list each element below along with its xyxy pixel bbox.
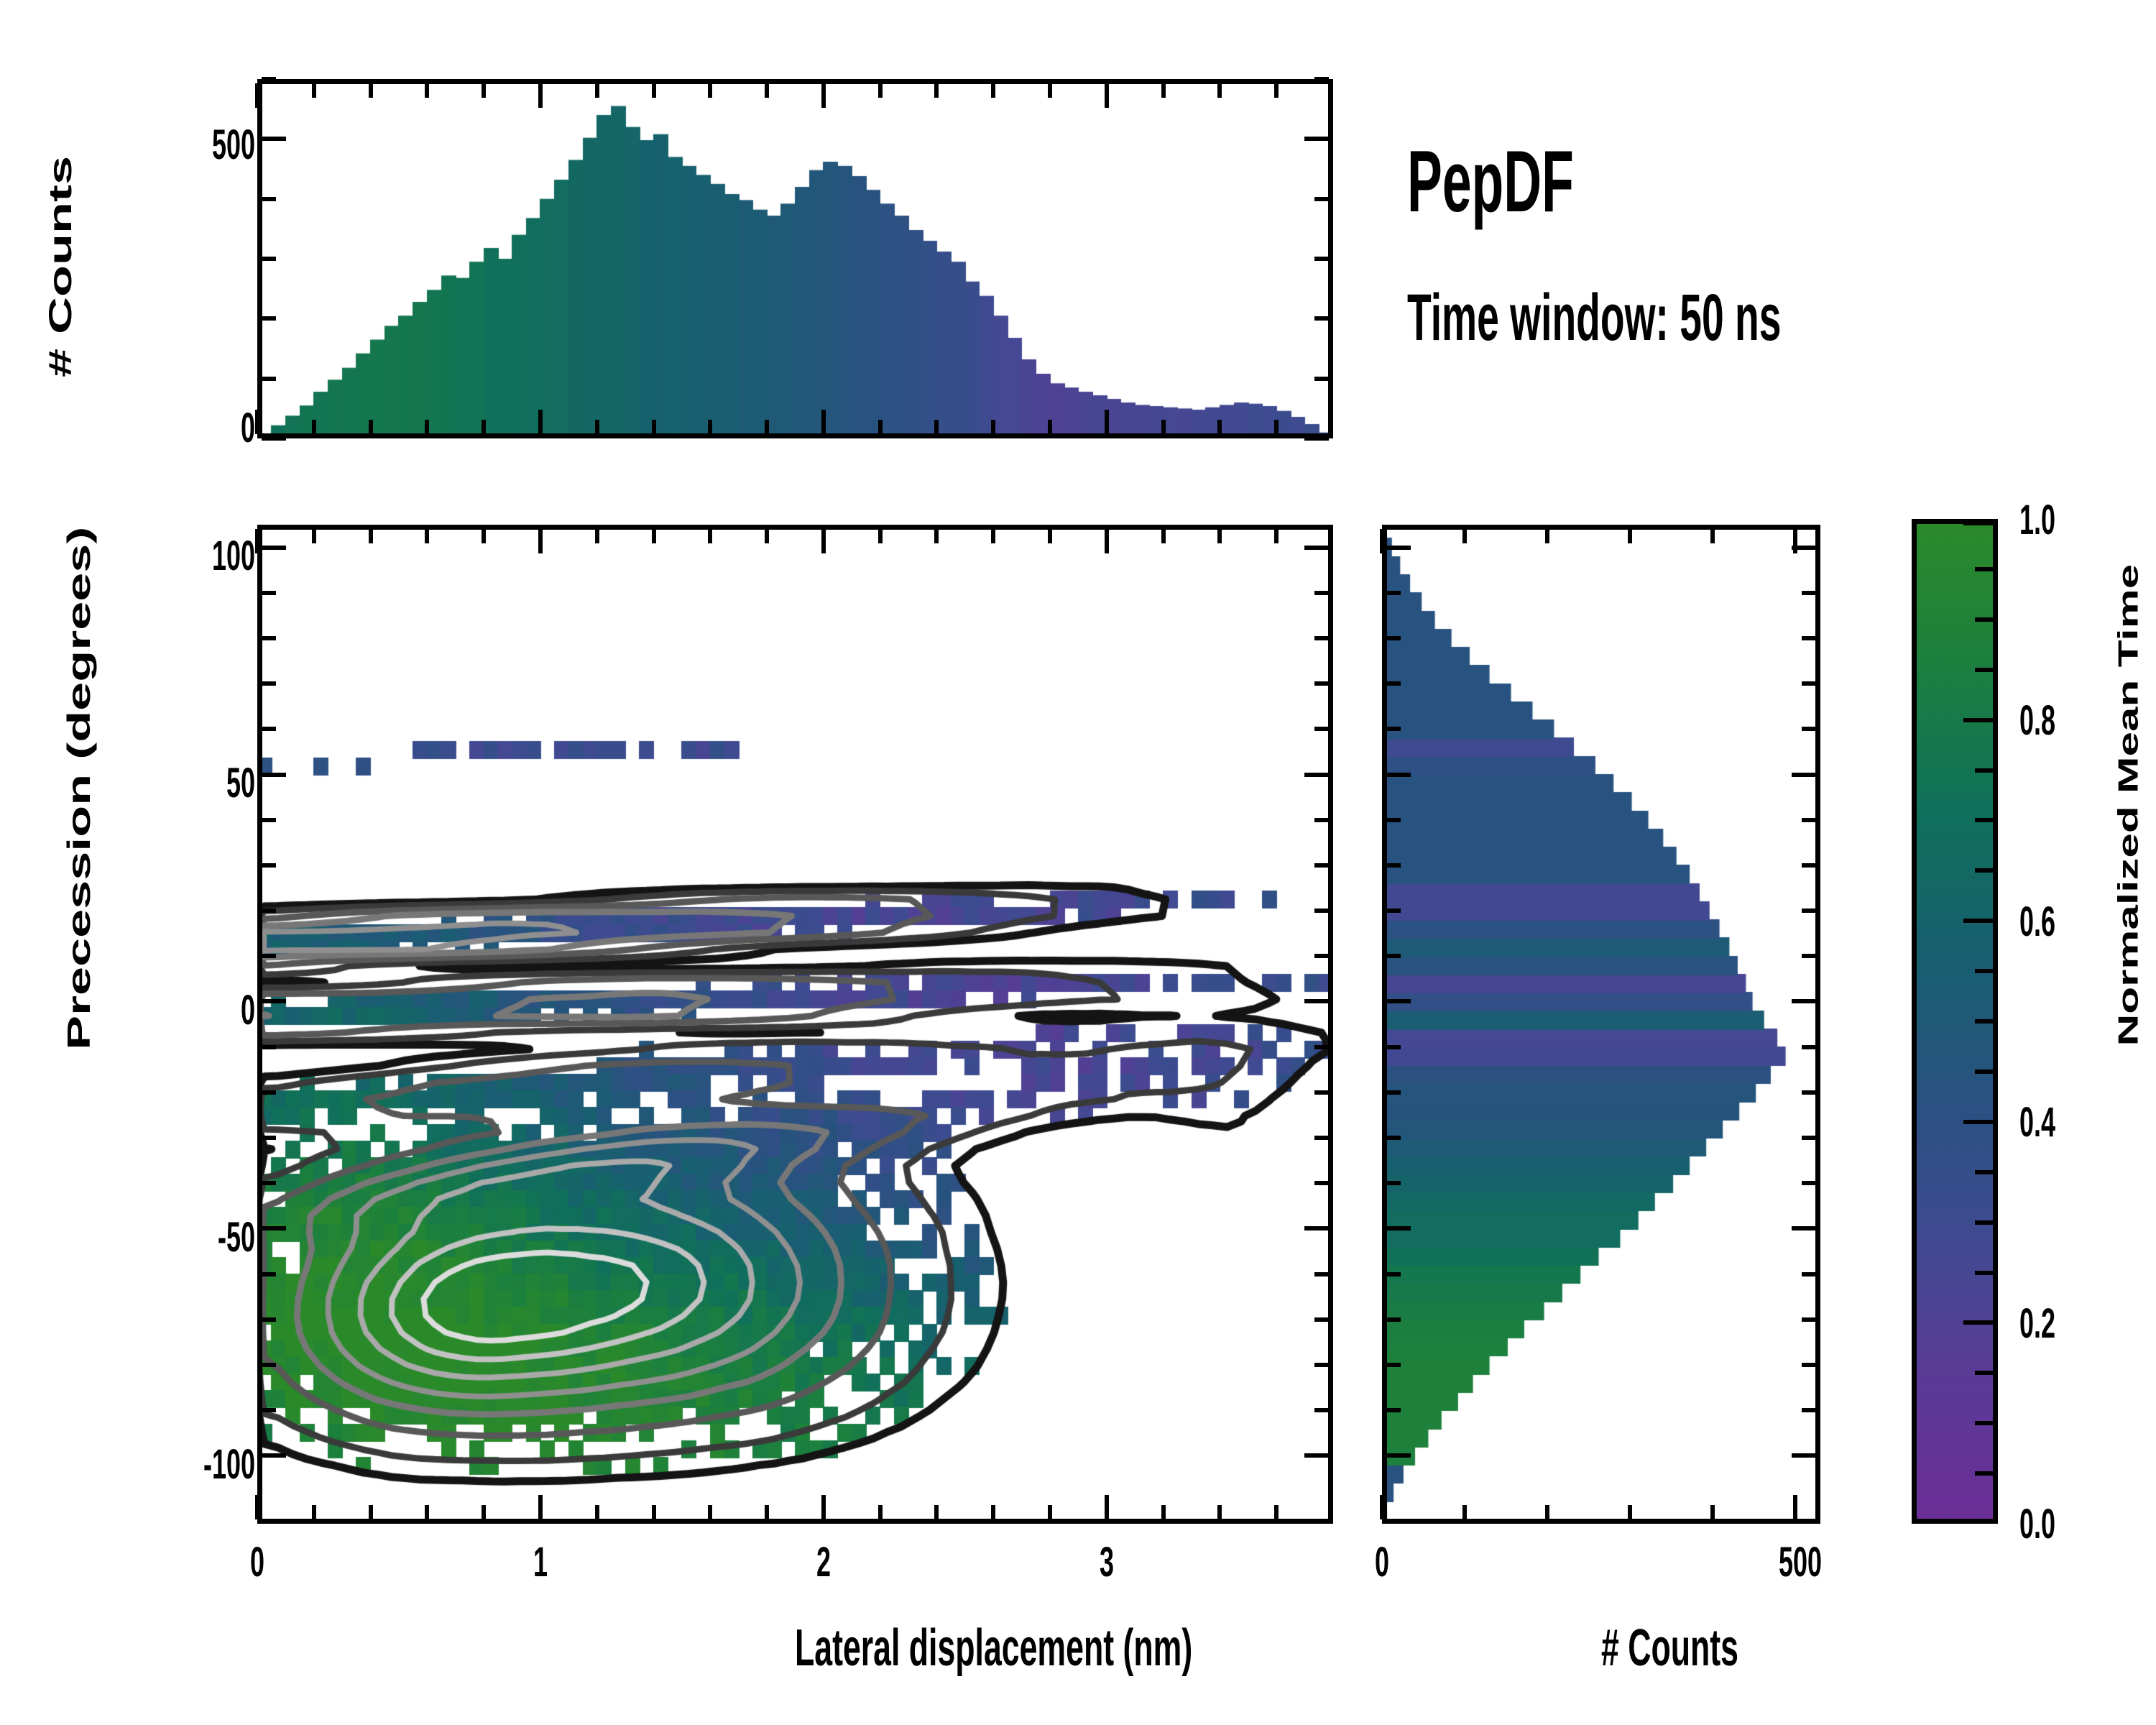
main-ytick-right [1304, 546, 1329, 550]
right-xtick-top [1710, 529, 1715, 543]
main-ytick-right [1314, 1408, 1329, 1412]
top-xtick-bottom [255, 410, 259, 434]
main-xtick-bottom [934, 1505, 939, 1519]
main-xtick-bottom [878, 1505, 883, 1519]
top-xtick-bottom [369, 420, 373, 434]
main-xtick-bottom [595, 1505, 599, 1519]
main-ytick-left [262, 1136, 276, 1140]
colorbar-tick [1963, 1120, 1994, 1124]
main-xtick-top [482, 529, 486, 543]
colorbar-tick [1963, 1519, 1994, 1524]
right-ytick-left [1386, 1453, 1411, 1458]
right-ytick-left [1386, 773, 1411, 777]
colorbar-tick [1975, 1069, 1994, 1074]
main-ytick-left [262, 1272, 276, 1276]
main-xtick-top [708, 529, 712, 543]
main-ytick-right [1314, 1136, 1329, 1140]
right-xtick-bottom [1545, 1505, 1549, 1519]
main-xtick-top [425, 529, 429, 543]
main-ytick-left [262, 954, 276, 958]
right-ytick-right [1802, 1090, 1816, 1095]
colorbar-tick [1975, 1170, 1994, 1174]
top-histogram-plot-area [257, 79, 1333, 438]
main-ytick-left [262, 1090, 276, 1095]
main-xtick-top [652, 529, 656, 543]
main-xtick-bottom [425, 1505, 429, 1519]
right-ytick-right [1802, 1045, 1816, 1049]
right-ytick-right [1792, 999, 1816, 1003]
main-xtick-bottom [765, 1505, 769, 1519]
colorbar-tick [1963, 718, 1994, 722]
density-contour-lines [257, 525, 1333, 1524]
right-ytick-right [1792, 1226, 1816, 1230]
top-xtick-top [821, 83, 826, 108]
main-xtick-top [934, 529, 939, 543]
main-ytick-neg50: -50 [157, 1213, 255, 1261]
right-xtick-bottom [1380, 1495, 1384, 1519]
top-xtick-top [878, 83, 883, 98]
main-xtick-3: 3 [1084, 1538, 1129, 1586]
figure-title: PepDF [1407, 131, 1574, 231]
colorbar-tick-0-4: 0.4 [2019, 1098, 2117, 1146]
top-ytick-left [262, 137, 286, 141]
top-xtick-bottom [821, 410, 826, 434]
right-xtick-top [1628, 529, 1632, 543]
top-xtick-top [708, 83, 712, 98]
main-ytick-left [262, 546, 286, 550]
right-ytick-left [1386, 954, 1401, 958]
main-xtick-top [765, 529, 769, 543]
top-xtick-top [312, 83, 316, 98]
main-xtick-0: 0 [235, 1538, 280, 1586]
colorbar-tick-0-2: 0.2 [2019, 1299, 2117, 1348]
right-ytick-right [1792, 1453, 1816, 1458]
top-xtick-bottom [482, 420, 486, 434]
right-ytick-left [1386, 1317, 1401, 1322]
right-ytick-left [1386, 1136, 1401, 1140]
right-histogram-plot-area [1382, 525, 1820, 1524]
main-ytick-right [1314, 954, 1329, 958]
main-ytick-right [1304, 999, 1329, 1003]
colorbar-tick-0-6: 0.6 [2019, 898, 2117, 946]
main-xtick-top [595, 529, 599, 543]
colorbar-tick-0-8: 0.8 [2019, 696, 2117, 745]
right-ytick-left [1386, 1045, 1401, 1049]
colorbar-tick [1975, 868, 1994, 873]
main-ytick-right [1314, 591, 1329, 595]
colorbar-tick [1975, 567, 1994, 571]
right-ytick-right [1802, 1136, 1816, 1140]
top-ytick-left [262, 257, 276, 261]
main-xtick-bottom [1048, 1505, 1052, 1519]
colorbar-tick [1963, 521, 1994, 525]
top-ytick-right [1314, 77, 1329, 81]
top-xtick-bottom [1048, 420, 1052, 434]
main-xtick-bottom [312, 1505, 316, 1519]
main-ytick-right [1314, 1317, 1329, 1322]
top-ytick-left [262, 316, 276, 321]
right-ytick-right [1802, 954, 1816, 958]
right-ytick-left [1386, 546, 1411, 550]
top-ytick-left [262, 197, 276, 201]
top-histogram-ylabel: # Counts [42, 156, 79, 377]
main-ytick-right [1304, 1453, 1329, 1458]
right-ytick-right [1802, 1408, 1816, 1412]
main-xtick-top [369, 529, 373, 543]
top-xtick-top [934, 83, 939, 98]
right-ytick-right [1802, 681, 1816, 686]
main-xtick-bottom [538, 1495, 543, 1519]
main-ytick-left [262, 1363, 276, 1367]
main-xtick-top [538, 529, 543, 553]
right-ytick-right [1802, 818, 1816, 822]
main-ytick-right [1314, 1181, 1329, 1185]
top-xtick-top [595, 83, 599, 98]
colorbar-tick [1975, 1271, 1994, 1275]
figure-root: 500 0 # Counts PepDF Time window: 50 ns … [0, 0, 2156, 1725]
right-ytick-left [1386, 591, 1401, 595]
right-ytick-left [1386, 1181, 1401, 1185]
right-ytick-right [1802, 727, 1816, 731]
top-ytick-left [262, 377, 276, 381]
top-xtick-top [991, 83, 995, 98]
main-ytick-right [1314, 863, 1329, 868]
colorbar-tick-0-0: 0.0 [2019, 1500, 2117, 1548]
right-ytick-left [1386, 1408, 1401, 1412]
colorbar-tick [1975, 768, 1994, 773]
top-xtick-bottom [878, 420, 883, 434]
right-xtick-top [1380, 529, 1384, 553]
colorbar-tick [1975, 1471, 1994, 1476]
main-xtick-bottom [482, 1505, 486, 1519]
right-xtick-top [1793, 529, 1797, 553]
main-xtick-bottom [708, 1505, 712, 1519]
main-ytick-right [1314, 1363, 1329, 1367]
top-xtick-top [425, 83, 429, 98]
right-xtick-top [1545, 529, 1549, 543]
right-xtick-0: 0 [1360, 1538, 1404, 1586]
main-ytick-left [262, 908, 276, 913]
top-xtick-bottom [934, 420, 939, 434]
main-ytick-left [262, 1317, 276, 1322]
right-ytick-left [1386, 908, 1401, 913]
right-ytick-right [1802, 636, 1816, 640]
top-ytick-500: 500 [184, 121, 255, 169]
top-xtick-bottom [425, 420, 429, 434]
top-xtick-bottom [765, 420, 769, 434]
top-xtick-bottom [312, 420, 316, 434]
top-xtick-bottom [1217, 420, 1222, 434]
right-ytick-left [1386, 1226, 1411, 1230]
right-xtick-bottom [1628, 1505, 1632, 1519]
top-xtick-top [1105, 83, 1109, 108]
right-xtick-bottom [1462, 1505, 1467, 1519]
top-ytick-right [1304, 436, 1329, 441]
top-ytick-right [1304, 137, 1329, 141]
main-ytick-right [1314, 1272, 1329, 1276]
main-xtick-bottom [1105, 1495, 1109, 1519]
main-xtick-top [1048, 529, 1052, 543]
colorbar-tick [1975, 969, 1994, 973]
main-xtick-top [1105, 529, 1109, 553]
right-xtick-bottom [1793, 1495, 1797, 1519]
main-xtick-top [1274, 529, 1279, 543]
top-xtick-bottom [538, 410, 543, 434]
main-xtick-bottom [369, 1505, 373, 1519]
right-ytick-left [1386, 863, 1401, 868]
right-ytick-right [1802, 1272, 1816, 1276]
main-ytick-right [1314, 908, 1329, 913]
top-ytick-right [1314, 257, 1329, 261]
top-xtick-bottom [1161, 420, 1166, 434]
colorbar-tick [1975, 1220, 1994, 1225]
right-ytick-right [1802, 1363, 1816, 1367]
main-ytick-left [262, 1408, 276, 1412]
main-xtick-1: 1 [518, 1538, 563, 1586]
top-xtick-top [1048, 83, 1052, 98]
main-ytick-left [262, 1181, 276, 1185]
top-xtick-bottom [1274, 420, 1279, 434]
right-ytick-right [1802, 863, 1816, 868]
main-ytick-left [262, 1453, 286, 1458]
top-ytick-right [1314, 377, 1329, 381]
top-xtick-top [369, 83, 373, 98]
top-xtick-bottom [1105, 410, 1109, 434]
colorbar-tick [1963, 919, 1994, 923]
main-ytick-0: 0 [193, 986, 255, 1034]
top-xtick-top [482, 83, 486, 98]
main-xtick-top [821, 529, 826, 553]
right-ytick-right [1802, 1317, 1816, 1322]
colorbar-tick [1975, 818, 1994, 822]
main-xtick-bottom [1161, 1505, 1166, 1519]
top-xtick-top [255, 83, 259, 108]
main-xtick-bottom [652, 1505, 656, 1519]
right-ytick-right [1792, 546, 1816, 550]
top-xtick-bottom [595, 420, 599, 434]
main-ytick-right [1314, 818, 1329, 822]
colorbar-tick [1975, 668, 1994, 672]
top-xtick-top [1274, 83, 1279, 98]
top-xtick-top [765, 83, 769, 98]
main-ytick-right [1314, 727, 1329, 731]
main-ytick-right [1314, 1090, 1329, 1095]
top-xtick-top [652, 83, 656, 98]
main-ytick-left [262, 1226, 286, 1230]
figure-subtitle: Time window: 50 ns [1407, 280, 1781, 356]
main-xtick-bottom [255, 1495, 259, 1519]
right-ytick-left [1386, 1090, 1401, 1095]
colorbar-tick [1975, 1371, 1994, 1375]
main-panel-ylabel: Precession (degrees) [61, 527, 98, 1050]
main-heatmap-panel [257, 525, 1333, 1524]
colorbar-tick [1963, 1320, 1994, 1325]
colorbar-tick [1975, 1421, 1994, 1425]
top-ytick-right [1314, 197, 1329, 201]
main-ytick-left [262, 727, 276, 731]
main-ytick-right [1304, 773, 1329, 777]
right-ytick-left [1386, 636, 1401, 640]
main-ytick-left [262, 999, 286, 1003]
main-ytick-left [262, 863, 276, 868]
main-ytick-left [262, 681, 276, 686]
right-ytick-left [1386, 818, 1401, 822]
top-xtick-top [538, 83, 543, 108]
top-ytick-left [262, 436, 286, 441]
main-ytick-100: 100 [166, 532, 255, 580]
top-ytick-right [1314, 316, 1329, 321]
main-xtick-2: 2 [801, 1538, 846, 1586]
main-ytick-neg100: -100 [144, 1440, 255, 1489]
top-ytick-0: 0 [202, 404, 255, 452]
main-ytick-right [1304, 1226, 1329, 1230]
right-ytick-right [1792, 773, 1816, 777]
top-xtick-bottom [652, 420, 656, 434]
top-xtick-bottom [991, 420, 995, 434]
colorbar-tick-1-0: 1.0 [2019, 496, 2117, 544]
colorbar-tick [1975, 1019, 1994, 1023]
main-ytick-left [262, 636, 276, 640]
main-xtick-top [312, 529, 316, 543]
main-ytick-right [1314, 636, 1329, 640]
main-xtick-top [991, 529, 995, 543]
right-ytick-left [1386, 1272, 1401, 1276]
colorbar-label: Normalized Mean Time [2113, 564, 2145, 1046]
right-ytick-left [1386, 1363, 1401, 1367]
right-xtick-bottom [1710, 1505, 1715, 1519]
main-xtick-bottom [1274, 1505, 1279, 1519]
main-heatmap-plot-area [257, 525, 1333, 1524]
main-ytick-left [262, 1045, 276, 1049]
main-xtick-top [1161, 529, 1166, 543]
top-histogram-panel [257, 79, 1333, 438]
main-ytick-left [262, 818, 276, 822]
main-ytick-50: 50 [180, 759, 255, 807]
main-xtick-top [878, 529, 883, 543]
main-ytick-left [262, 773, 286, 777]
top-histogram-bars [257, 79, 1333, 438]
right-xtick-500: 500 [1756, 1538, 1845, 1586]
colorbar-tick [1975, 617, 1994, 622]
main-xtick-bottom [991, 1505, 995, 1519]
right-ytick-right [1802, 1181, 1816, 1185]
top-xtick-top [1217, 83, 1222, 98]
right-ytick-right [1802, 591, 1816, 595]
main-xtick-top [255, 529, 259, 553]
right-xtick-top [1462, 529, 1467, 543]
right-histogram-panel [1382, 525, 1820, 1524]
main-ytick-right [1314, 681, 1329, 686]
right-histogram-bars [1382, 525, 1820, 1524]
right-ytick-left [1386, 681, 1401, 686]
main-ytick-right [1314, 1045, 1329, 1049]
main-xtick-bottom [1217, 1505, 1222, 1519]
main-xtick-top [1217, 529, 1222, 543]
right-ytick-right [1802, 908, 1816, 913]
top-xtick-top [1161, 83, 1166, 98]
main-xtick-bottom [821, 1495, 826, 1519]
right-ytick-left [1386, 999, 1411, 1003]
top-xtick-bottom [708, 420, 712, 434]
right-ytick-left [1386, 727, 1401, 731]
top-ytick-left [262, 77, 276, 81]
main-ytick-left [262, 591, 276, 595]
